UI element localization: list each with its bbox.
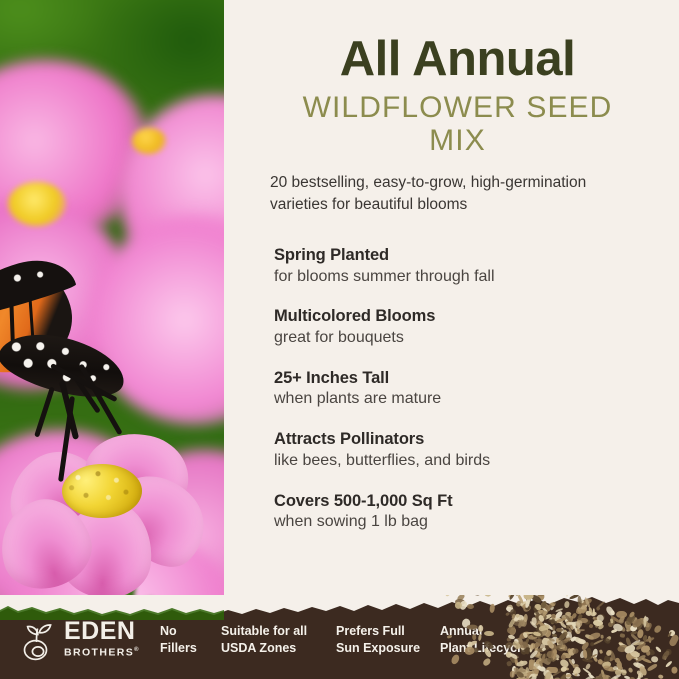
- sprout-seedling-icon: [22, 621, 60, 661]
- seed: [655, 645, 662, 652]
- badge-line-1: Prefers Full: [336, 623, 420, 640]
- seed: [651, 656, 659, 663]
- trademark-symbol: ®: [134, 647, 140, 653]
- seed: [524, 614, 528, 622]
- footer-bar: EDEN BROTHERS® No Fillers Suitable for a…: [0, 595, 679, 679]
- feature-description: for blooms summer through fall: [274, 267, 679, 288]
- list-item: 25+ Inches Tall when plants are mature: [274, 368, 679, 410]
- seed: [542, 648, 547, 652]
- seed: [467, 624, 478, 629]
- feature-description: when plants are mature: [274, 389, 679, 410]
- list-item: Spring Planted for blooms summer through…: [274, 245, 679, 287]
- seed: [573, 666, 581, 675]
- blurred-flower-center: [8, 182, 66, 226]
- seed: [589, 631, 602, 641]
- seed: [624, 675, 631, 679]
- logo-subname-text: BROTHERS: [64, 647, 134, 659]
- feature-description: when sowing 1 lb bag: [274, 512, 679, 533]
- title-block: All Annual WILDFLOWER SEED MIX 20 bestse…: [224, 0, 679, 216]
- seed: [585, 663, 591, 670]
- seed: [472, 633, 477, 639]
- seed: [509, 595, 516, 600]
- feature-title: Multicolored Blooms: [274, 306, 679, 327]
- seed: [578, 595, 583, 607]
- blurred-flower-center: [132, 128, 166, 154]
- seed: [556, 628, 563, 632]
- seed: [619, 633, 625, 639]
- product-photo: [0, 0, 224, 679]
- badge-line-2: USDA Zones: [221, 640, 307, 657]
- seed: [510, 671, 515, 678]
- logo-wordmark: EDEN BROTHERS®: [64, 619, 144, 658]
- product-subtitle: WILDFLOWER SEED MIX: [270, 91, 645, 157]
- feature-title: Spring Planted: [274, 245, 679, 266]
- feature-title: Attracts Pollinators: [274, 429, 679, 450]
- seed: [661, 650, 670, 661]
- product-feature-graphic: All Annual WILDFLOWER SEED MIX 20 bestse…: [0, 0, 679, 679]
- seed: [647, 663, 658, 672]
- badge-line-1: Suitable for all: [221, 623, 307, 640]
- seed: [588, 624, 593, 629]
- feature-list: Spring Planted for blooms summer through…: [224, 245, 679, 533]
- logo-subname: BROTHERS®: [64, 647, 144, 658]
- seed: [560, 666, 567, 672]
- badge-line-2: Fillers: [160, 640, 197, 657]
- page-title: All Annual: [270, 34, 645, 85]
- butterfly-leg: [34, 387, 55, 438]
- seed: [641, 657, 652, 664]
- status-badge: Suitable for all USDA Zones: [221, 623, 307, 656]
- seed: [563, 601, 570, 609]
- wildflower-seed-pile: [509, 595, 679, 679]
- feature-description: great for bouquets: [274, 328, 679, 349]
- feature-title: 25+ Inches Tall: [274, 368, 679, 389]
- seed: [630, 630, 638, 635]
- seed: [628, 667, 634, 673]
- seed: [604, 605, 615, 617]
- logo-name: EDEN: [64, 619, 144, 644]
- seed: [599, 649, 603, 654]
- seed: [596, 615, 604, 623]
- brand-logo[interactable]: EDEN BROTHERS®: [22, 619, 142, 663]
- flower-center: [62, 464, 142, 518]
- monarch-butterfly: [0, 268, 156, 468]
- status-badge: No Fillers: [160, 623, 197, 656]
- content-panel: All Annual WILDFLOWER SEED MIX 20 bestse…: [224, 0, 679, 600]
- list-item: Multicolored Blooms great for bouquets: [274, 306, 679, 348]
- badge-line-2: Sun Exposure: [336, 640, 420, 657]
- seed: [566, 595, 569, 597]
- seed: [658, 674, 664, 679]
- badge-line-1: No: [160, 623, 197, 640]
- status-badge: Prefers Full Sun Exposure: [336, 623, 420, 656]
- feature-description: like bees, butterflies, and birds: [274, 451, 679, 472]
- list-item: Attracts Pollinators like bees, butterfl…: [274, 429, 679, 471]
- product-tagline: 20 bestselling, easy-to-grow, high-germi…: [270, 172, 630, 216]
- seed: [478, 625, 483, 632]
- seed: [551, 595, 559, 596]
- seed: [672, 667, 678, 674]
- seed: [653, 624, 662, 634]
- seed: [642, 615, 646, 627]
- feature-title: Covers 500-1,000 Sq Ft: [274, 491, 679, 512]
- seed: [589, 641, 594, 646]
- list-item: Covers 500-1,000 Sq Ft when sowing 1 lb …: [274, 491, 679, 533]
